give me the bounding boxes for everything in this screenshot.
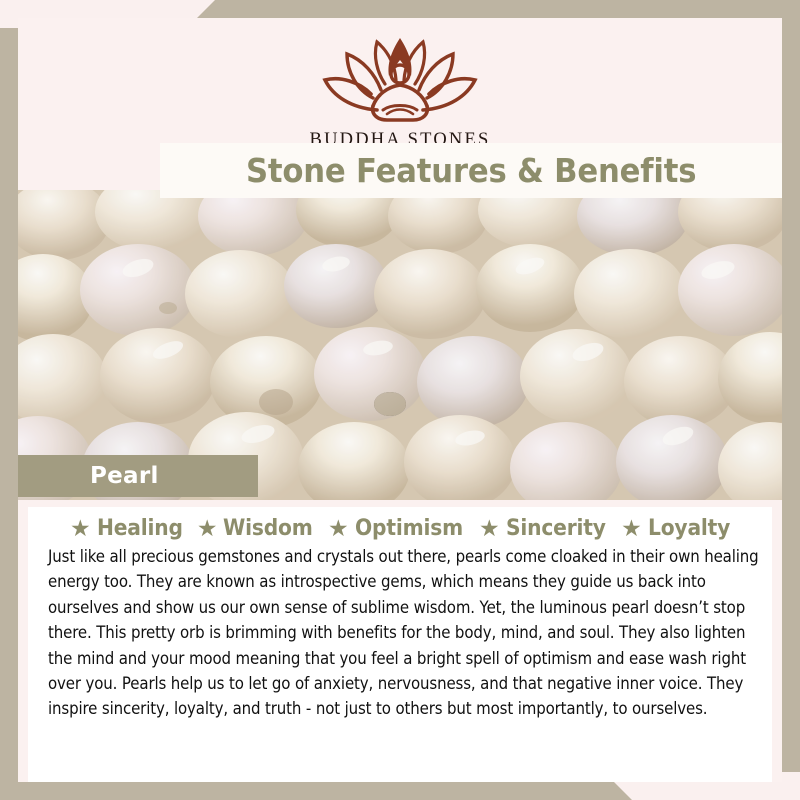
brand-logo: BUDDHA STONES bbox=[18, 32, 782, 151]
pearls-photo-graphic bbox=[18, 190, 782, 500]
keyword-label: Sincerity bbox=[506, 516, 606, 541]
benefits-panel: ★ Healing ★ Wisdom ★ Optimism ★ Sincerit… bbox=[28, 507, 772, 782]
benefits-paragraph: Just like all precious gemstones and cry… bbox=[48, 544, 771, 722]
star-icon: ★ bbox=[621, 517, 642, 540]
keyword-label: Optimism bbox=[355, 516, 463, 541]
lotus-meditation-icon bbox=[315, 32, 485, 124]
keyword-item-sincerity: ★ Sincerity bbox=[472, 516, 614, 541]
star-icon: ★ bbox=[70, 517, 91, 540]
keyword-label: Wisdom bbox=[223, 516, 313, 541]
keyword-label: Healing bbox=[97, 516, 183, 541]
keyword-label: Loyalty bbox=[648, 516, 730, 541]
content-card: BUDDHA STONES bbox=[18, 18, 782, 782]
star-icon: ★ bbox=[197, 517, 218, 540]
keyword-list: ★ Healing ★ Wisdom ★ Optimism ★ Sincerit… bbox=[28, 507, 772, 541]
keyword-item-optimism: ★ Optimism bbox=[321, 516, 472, 541]
stone-name-band: Pearl bbox=[18, 455, 258, 497]
pearls-photo bbox=[18, 190, 782, 500]
star-icon: ★ bbox=[479, 517, 500, 540]
star-icon: ★ bbox=[328, 517, 349, 540]
page-title: Stone Features & Benefits bbox=[246, 151, 696, 190]
keyword-item-loyalty: ★ Loyalty bbox=[614, 516, 737, 541]
keyword-item-wisdom: ★ Wisdom bbox=[190, 516, 321, 541]
title-banner: Stone Features & Benefits bbox=[160, 143, 782, 198]
keyword-item-healing: ★ Healing bbox=[63, 516, 190, 541]
stone-name: Pearl bbox=[90, 463, 159, 489]
infographic-page: BUDDHA STONES bbox=[0, 0, 800, 800]
